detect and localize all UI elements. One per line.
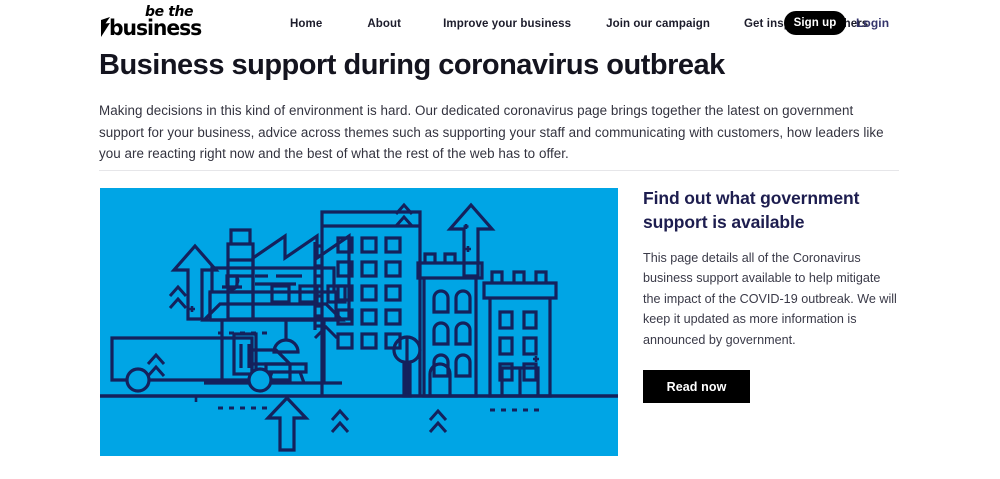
nav-home[interactable]: Home <box>290 18 322 30</box>
feature-body-text: This page details all of the Coronavirus… <box>643 248 898 350</box>
sign-up-button[interactable]: Sign up <box>784 11 846 35</box>
read-now-button[interactable]: Read now <box>643 370 750 403</box>
page-title: Business support during coronavirus outb… <box>99 48 899 82</box>
site-logo[interactable]: be the business <box>99 5 203 39</box>
feature-column: Find out what government support is avai… <box>643 186 901 403</box>
city-business-illustration <box>100 188 618 456</box>
page-intro-text: Making decisions in this kind of environ… <box>99 100 889 165</box>
section-divider <box>99 170 899 171</box>
nav-improve-your-business[interactable]: Improve your business <box>443 18 571 30</box>
login-link[interactable]: Login <box>856 16 889 30</box>
site-header: be the business Home About Improve your … <box>0 0 1000 47</box>
feature-title: Find out what government support is avai… <box>643 186 901 234</box>
nav-join-our-campaign[interactable]: Join our campaign <box>606 18 710 30</box>
logo-line-2: business <box>109 17 201 39</box>
main-navigation: Home About Improve your business Join ou… <box>290 0 868 47</box>
nav-about[interactable]: About <box>367 18 401 30</box>
